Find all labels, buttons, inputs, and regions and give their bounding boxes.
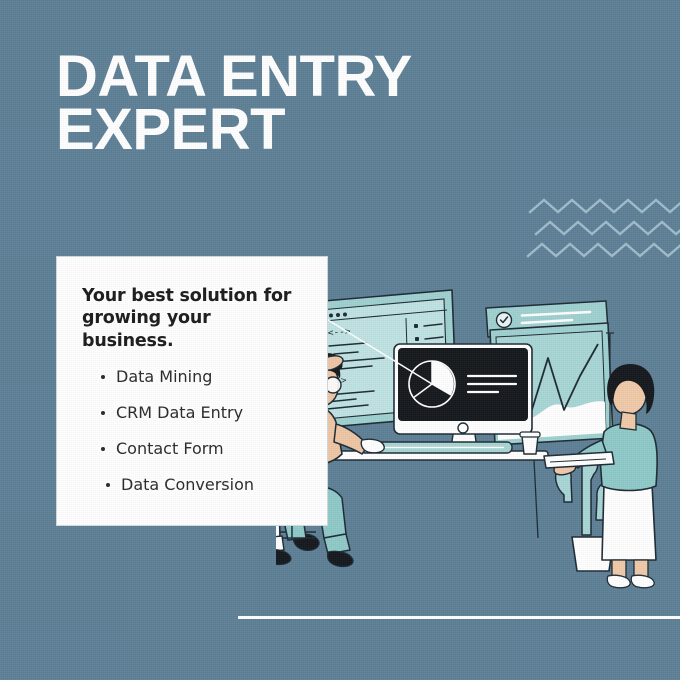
zigzag-decoration bbox=[524, 196, 680, 258]
services-list: Data Mining CRM Data Entry Contact Form … bbox=[99, 369, 329, 513]
check-circle-icon bbox=[497, 313, 512, 328]
list-item: Data Mining bbox=[99, 369, 329, 385]
office-illustration: <--> <-/> bbox=[276, 288, 680, 592]
services-card: Your best solution for growing your busi… bbox=[56, 256, 328, 526]
poster-headline: DATA ENTRY EXPERT bbox=[56, 50, 576, 157]
headline-line-2: EXPERT bbox=[56, 103, 576, 156]
poster-canvas: <--> <-/> bbox=[0, 0, 680, 680]
bottom-divider-rule bbox=[238, 616, 680, 619]
headline-line-1: DATA ENTRY bbox=[56, 50, 576, 103]
card-heading: Your best solution for growing your busi… bbox=[82, 285, 307, 352]
list-item: Data Conversion bbox=[99, 477, 329, 493]
list-item: CRM Data Entry bbox=[99, 405, 329, 421]
list-item: Contact Form bbox=[99, 441, 329, 457]
coffee-cup bbox=[520, 432, 540, 454]
card-heading-line-2: growing your business. bbox=[82, 307, 307, 352]
card-heading-line-1: Your best solution for bbox=[82, 285, 307, 307]
